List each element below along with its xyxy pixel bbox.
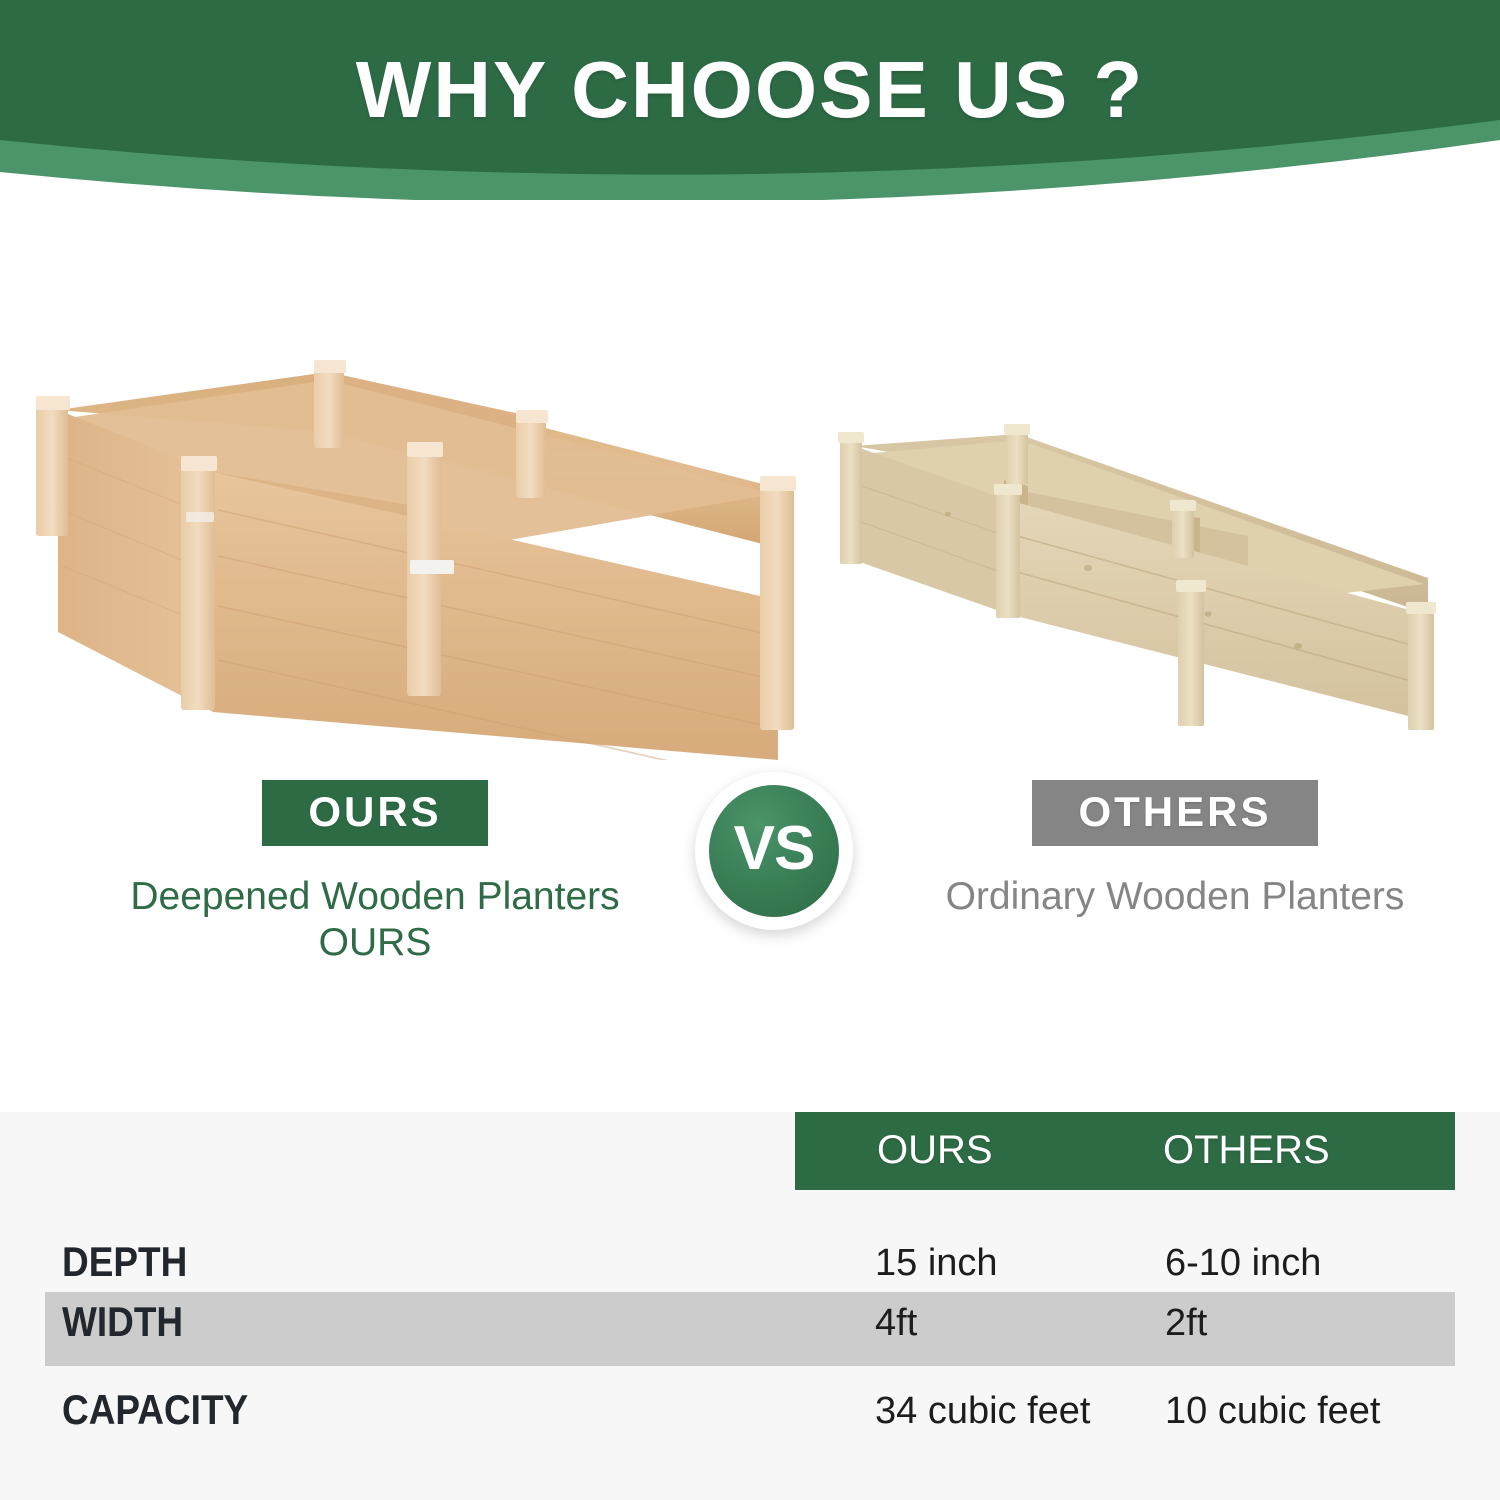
table-header-band: OURS OTHERS bbox=[795, 1112, 1455, 1190]
cell-width-others: 2ft bbox=[1165, 1302, 1207, 1345]
vs-label: VS bbox=[734, 818, 815, 884]
ours-label-column: OURS Deepened Wooden Planters OURS bbox=[120, 780, 630, 966]
ours-planter-image bbox=[18, 360, 808, 765]
cell-capacity-ours: 34 cubic feet bbox=[875, 1390, 1090, 1433]
cell-depth-others: 6-10 inch bbox=[1165, 1242, 1321, 1285]
row-label-depth: DEPTH bbox=[62, 1238, 187, 1286]
row-label-width: WIDTH bbox=[62, 1298, 183, 1346]
vs-badge-circle: VS bbox=[709, 785, 839, 917]
page-title: WHY CHOOSE US ? bbox=[0, 44, 1500, 136]
ours-tag: OURS bbox=[262, 780, 487, 846]
others-label-column: OTHERS Ordinary Wooden Planters bbox=[900, 780, 1450, 920]
row-highlight-background bbox=[45, 1292, 1455, 1366]
spec-comparison-table: OURS OTHERS DEPTH 15 inch 6-10 inch WIDT… bbox=[0, 1112, 1500, 1500]
product-comparison-area: OURS Deepened Wooden Planters OURS VS OT… bbox=[0, 200, 1500, 1112]
table-row: CAPACITY 34 cubic feet 10 cubic feet bbox=[0, 1380, 1500, 1454]
others-tag: OTHERS bbox=[1032, 780, 1317, 846]
vs-badge: VS bbox=[695, 772, 853, 930]
comparison-labels: OURS Deepened Wooden Planters OURS VS OT… bbox=[0, 780, 1500, 1060]
cell-depth-ours: 15 inch bbox=[875, 1242, 998, 1285]
page-header: WHY CHOOSE US ? bbox=[0, 0, 1500, 200]
row-label-capacity: CAPACITY bbox=[62, 1386, 248, 1434]
cell-width-ours: 4ft bbox=[875, 1302, 917, 1345]
others-caption: Ordinary Wooden Planters bbox=[900, 874, 1450, 920]
cell-capacity-others: 10 cubic feet bbox=[1165, 1390, 1380, 1433]
others-planter-image bbox=[828, 418, 1458, 753]
table-row: WIDTH 4ft 2ft bbox=[0, 1292, 1500, 1366]
table-column-header-ours: OURS bbox=[877, 1128, 993, 1173]
table-column-header-others: OTHERS bbox=[1163, 1128, 1330, 1173]
ours-caption: Deepened Wooden Planters OURS bbox=[120, 874, 630, 966]
